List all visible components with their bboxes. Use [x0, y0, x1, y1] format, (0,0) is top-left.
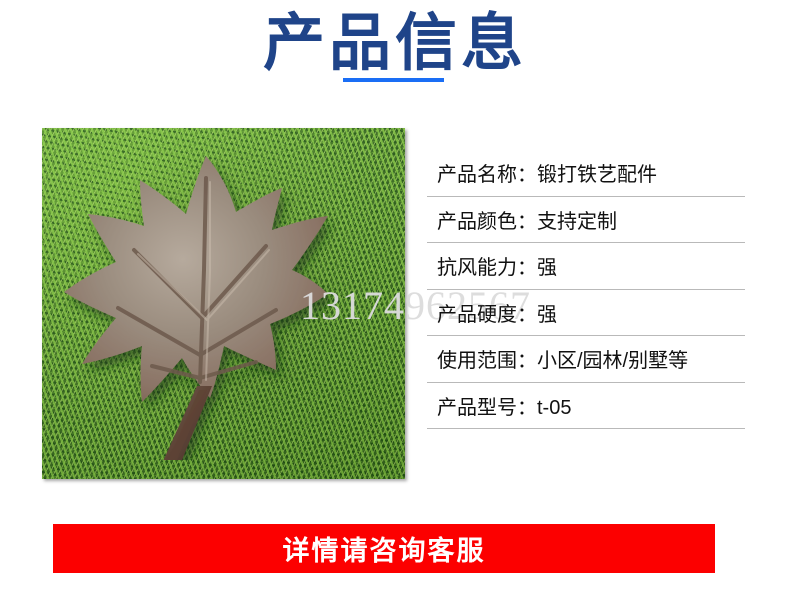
spec-value: 锻打铁艺配件	[537, 164, 657, 186]
table-row: 产品型号：t-05	[427, 383, 745, 430]
spec-value: 强	[537, 304, 557, 326]
spec-value: 强	[537, 257, 557, 279]
spec-label: 使用范围：	[437, 350, 537, 372]
spec-value: 小区/园林/别墅等	[537, 350, 688, 372]
spec-label: 产品型号：	[437, 397, 537, 419]
table-row: 产品名称：锻打铁艺配件	[427, 150, 745, 197]
table-row: 抗风能力：强	[427, 243, 745, 290]
iron-maple-leaf-object	[60, 150, 350, 460]
page-title: 产品信息	[0, 8, 790, 80]
product-photo: 13174962567	[42, 128, 405, 479]
spec-label: 抗风能力：	[437, 257, 537, 279]
maple-leaf-icon	[60, 150, 350, 460]
table-row: 使用范围：小区/园林/别墅等	[427, 336, 745, 383]
contact-support-banner-label: 详情请咨询客服	[283, 529, 486, 568]
table-row: 产品硬度：强	[427, 290, 745, 337]
spec-value: 支持定制	[537, 211, 617, 233]
spec-table: 产品名称：锻打铁艺配件 产品颜色：支持定制 抗风能力：强 产品硬度：强 使用范围…	[427, 150, 745, 429]
spec-label: 产品硬度：	[437, 304, 537, 326]
product-info-page: 产品信息	[0, 0, 790, 595]
contact-support-banner[interactable]: 详情请咨询客服	[53, 524, 715, 573]
table-row: 产品颜色：支持定制	[427, 197, 745, 244]
title-underline-accent	[343, 78, 444, 82]
spec-label: 产品名称：	[437, 164, 537, 186]
spec-label: 产品颜色：	[437, 211, 537, 233]
page-header: 产品信息	[0, 8, 790, 80]
spec-value: t-05	[537, 397, 571, 419]
